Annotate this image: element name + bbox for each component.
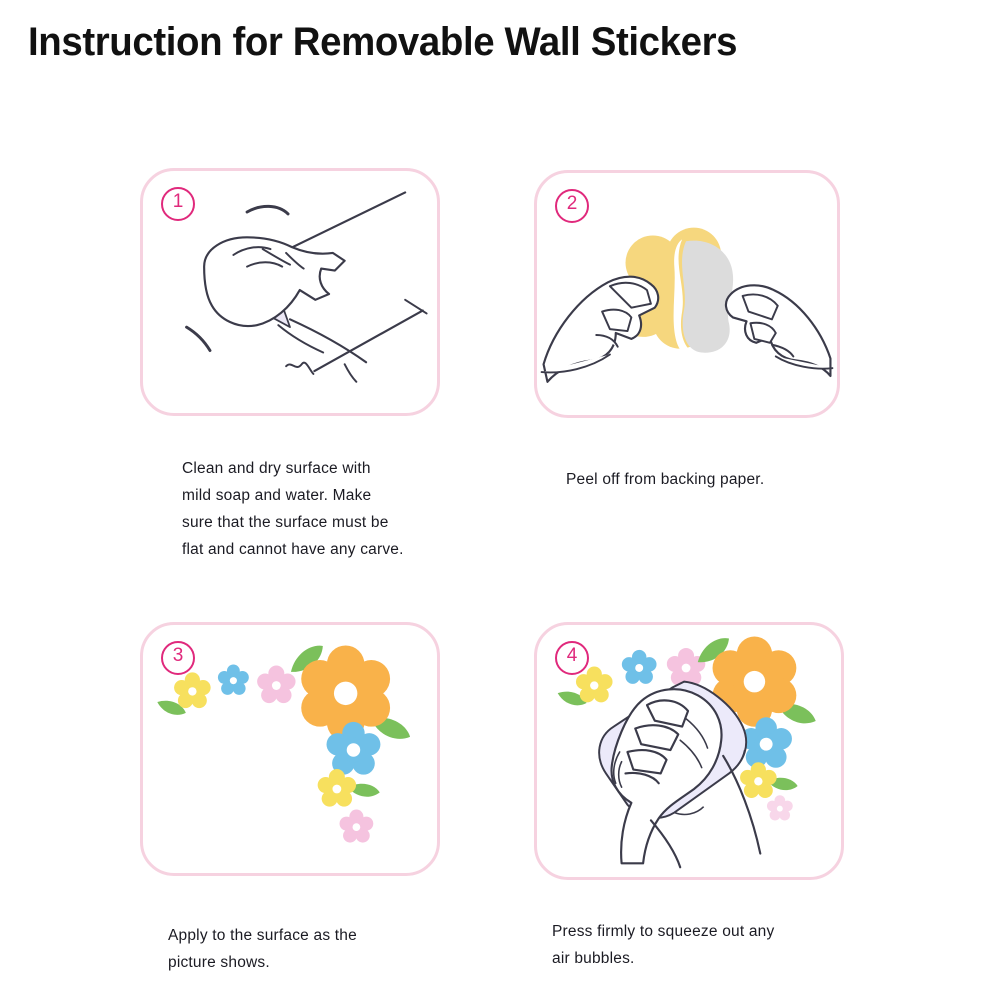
step-badge-3: 3 (161, 641, 195, 675)
backing-paper (674, 239, 734, 356)
flower-pink-small-1 (257, 666, 295, 704)
step-caption-3: Apply to the surface as the picture show… (168, 922, 458, 976)
step-caption-1: Clean and dry surface with mild soap and… (182, 455, 462, 563)
flower-yellow-small-2 (318, 769, 381, 807)
flower-pink-small-2 (767, 795, 793, 820)
step-badge-4: 4 (555, 641, 589, 675)
step-panel-2: 2 (534, 170, 840, 418)
step-panel-3: 3 (140, 622, 440, 876)
flower-pink-small-2 (340, 810, 374, 843)
step-panel-1: 1 (140, 168, 440, 416)
step-badge-1: 1 (161, 187, 195, 221)
flower-yellow-small-1 (155, 672, 210, 718)
flower-pink-small-1 (667, 648, 705, 686)
flower-yellow-small-2 (740, 762, 798, 798)
step-caption-4: Press firmly to squeeze out any air bubb… (552, 918, 852, 972)
flower-blue-small-1 (218, 665, 249, 695)
step-panel-4: 4 (534, 622, 844, 880)
step-badge-2: 2 (555, 189, 589, 223)
step-caption-2: Peel off from backing paper. (566, 466, 846, 493)
flower-blue-small-1 (622, 650, 657, 684)
page-title: Instruction for Removable Wall Stickers (28, 20, 737, 65)
